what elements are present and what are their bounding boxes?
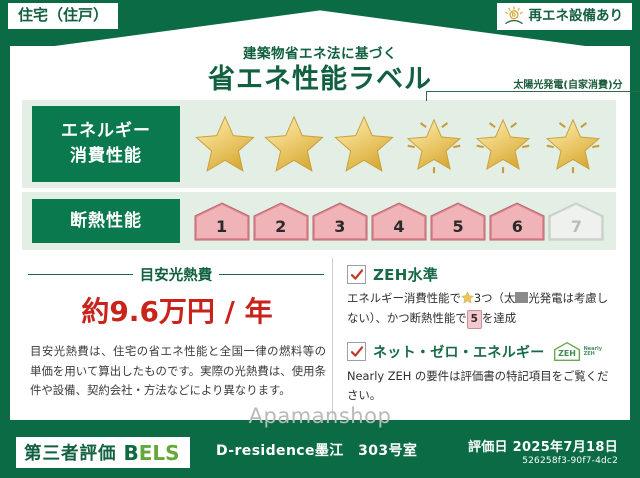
- checked-checkbox-net-zero: [347, 342, 366, 361]
- badge-dwelling-type-label: 住宅（住戸）: [18, 6, 108, 24]
- utility-cost-value: 約9.6万円 / 年: [22, 290, 332, 330]
- insulation-level-1-value: 1: [216, 217, 227, 242]
- insulation-level-3: 3: [311, 200, 369, 242]
- utility-cost-heading-text: 目安光熱費: [140, 264, 213, 285]
- sun-renewable-icon: [503, 6, 525, 26]
- solar-note-label: 太陽光発電(自家消費)分: [418, 76, 640, 91]
- evaluation-id: 526258f3-90f7-4dc2: [468, 456, 618, 466]
- star-2: [263, 113, 325, 175]
- insulation-performance-row: 断熱性能 1 2: [22, 192, 616, 250]
- insulation-level-5-value: 5: [453, 217, 464, 242]
- net-zero-energy-heading: ネット・ゼロ・エネルギー ZEH Nearly ZEH: [347, 340, 616, 363]
- insulation-level-7-value: 7: [571, 217, 582, 242]
- energy-performance-label-line2: 消費性能: [70, 144, 142, 169]
- cost-rule-right: [219, 274, 324, 276]
- bels-logo-b: B: [124, 441, 139, 465]
- insulation-level-3-value: 3: [334, 217, 345, 242]
- net-zero-energy-block: ネット・ゼロ・エネルギー ZEH Nearly ZEH: [347, 340, 616, 404]
- net-zero-energy-body: Nearly ZEH の要件は評価書の特記項目をご覧ください。: [347, 367, 616, 404]
- utility-cost-heading: 目安光熱費: [28, 264, 324, 285]
- energy-performance-label: エネルギー 消費性能: [32, 106, 180, 182]
- bels-badge: 第三者評価 BELS: [16, 437, 190, 468]
- energy-performance-row: エネルギー 消費性能 太陽光発電(自家消費)分: [22, 100, 616, 188]
- insulation-level-4: 4: [370, 200, 428, 242]
- utility-cost-note: 目安光熱費は、住宅の省エネ性能と全国一律の燃料等の単価を用いて算出したものです。…: [30, 342, 326, 401]
- solar-bracket: [426, 91, 640, 101]
- property-address: D-residence墨江 303号室: [216, 440, 417, 460]
- zeh-standard-body-part2: 3つ（太: [474, 291, 515, 305]
- energy-star-rating: 太陽光発電(自家消費)分: [180, 106, 616, 182]
- insulation-level-2: 2: [252, 200, 310, 242]
- insulation-performance-label: 断熱性能: [32, 199, 180, 243]
- checked-checkbox-zeh-standard: [347, 265, 366, 284]
- evaluation-date: 評価日 2025年7月18日: [468, 436, 618, 455]
- insulation-performance-label-text: 断熱性能: [70, 209, 142, 234]
- net-zero-energy-title: ネット・ゼロ・エネルギー: [373, 342, 545, 362]
- bels-energy-label: 住宅（住戸） 再エネ設備あり 建築物省エネ法に基づく 省エネ性能ラベル: [0, 0, 640, 478]
- badge-renewable-equipment: 再エネ設備あり: [497, 3, 633, 30]
- utility-cost-column: 目安光熱費 約9.6万円 / 年 目安光熱費は、住宅の省エネ性能と全国一律の燃料…: [22, 258, 332, 420]
- zeh-house-logo: ZEH Nearly ZEH: [552, 340, 602, 363]
- energy-performance-label-line1: エネルギー: [61, 119, 151, 144]
- insulation-level-1: 1: [193, 200, 251, 242]
- insulation-level-4-value: 4: [393, 217, 404, 242]
- badge-dwelling-type: 住宅（住戸）: [8, 3, 118, 29]
- redacted-block: [515, 292, 528, 303]
- label-body-panel: エネルギー 消費性能 太陽光発電(自家消費)分: [10, 96, 630, 420]
- insulation-badge-5: 5: [467, 310, 482, 329]
- zeh-standard-title: ZEH水準: [373, 264, 438, 285]
- zeh-standard-block: ZEH水準 エネルギー消費性能で3つ（太光発電は考慮しない）、かつ断熱性能で5を…: [347, 264, 616, 329]
- insulation-level-6: 6: [488, 200, 546, 242]
- zeh-logo-sub2: ZEH: [584, 351, 595, 357]
- zeh-logo-sub: Nearly ZEH: [584, 347, 602, 358]
- label-detail-section: 目安光熱費 約9.6万円 / 年 目安光熱費は、住宅の省エネ性能と全国一律の燃料…: [22, 258, 616, 420]
- svg-text:ZEH: ZEH: [558, 349, 576, 358]
- star-5-solar: [472, 113, 534, 175]
- insulation-level-7: 7: [547, 200, 605, 242]
- badge-renewable-label: 再エネ設備あり: [529, 9, 624, 24]
- insulation-level-scale: 1 2 3: [180, 200, 616, 242]
- zeh-standard-body-part4: を達成: [482, 311, 516, 325]
- insulation-level-5: 5: [429, 200, 487, 242]
- zeh-standard-body-part1: エネルギー消費性能で: [347, 291, 461, 305]
- star-3: [333, 113, 395, 175]
- cost-rule-left: [28, 274, 133, 276]
- star-icon-inline: [461, 291, 474, 309]
- evaluation-info: 評価日 2025年7月18日 526258f3-90f7-4dc2: [468, 436, 618, 466]
- star-4-solar: [403, 113, 465, 175]
- zeh-standard-heading: ZEH水準: [347, 264, 616, 285]
- insulation-level-6-value: 6: [512, 217, 523, 242]
- insulation-level-2-value: 2: [275, 217, 286, 242]
- bels-logo-els: ELS: [139, 441, 180, 465]
- star-1: [194, 113, 256, 175]
- star-6-solar: [542, 113, 604, 175]
- zeh-column: ZEH水準 エネルギー消費性能で3つ（太光発電は考慮しない）、かつ断熱性能で5を…: [332, 258, 616, 420]
- bels-logo: BELS: [124, 441, 180, 465]
- bels-third-party-label: 第三者評価: [24, 440, 117, 465]
- zeh-standard-body: エネルギー消費性能で3つ（太光発電は考慮しない）、かつ断熱性能で5を達成: [347, 289, 616, 329]
